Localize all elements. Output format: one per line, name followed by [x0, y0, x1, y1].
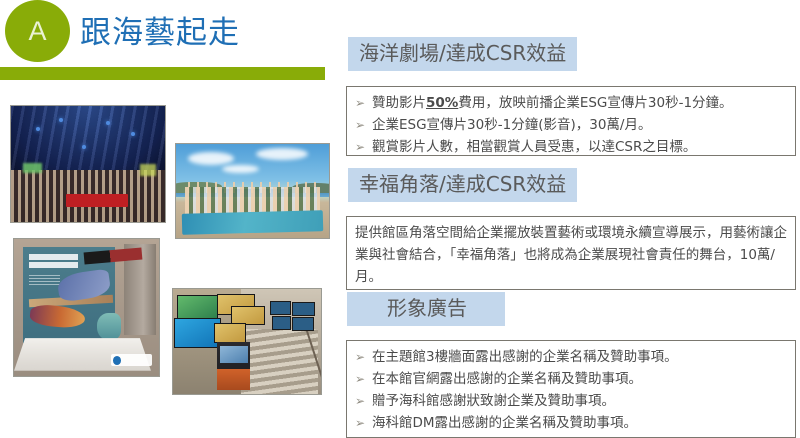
theater-light-dot: [36, 127, 40, 131]
page-title: 跟海藝起走: [80, 17, 240, 50]
bullet-arrow-icon: ➢: [355, 115, 372, 136]
content-column: 海洋劇場/達成CSR效益 ➢ 贊助影片50%費用，放映前播企業ESG宣傳片30秒…: [344, 0, 800, 437]
photo-theater-image: [11, 106, 165, 222]
info-kiosk-screen: [220, 346, 248, 363]
beach-cloud: [256, 148, 308, 160]
theater-stage-light: [23, 163, 41, 173]
bullet-list-image-ad: ➢ 在主題館3樓牆面露出感謝的企業名稱及贊助事項。 ➢ 在本館官網露出感謝的企業…: [355, 347, 787, 434]
section-header-ocean-theater: 海洋劇場/達成CSR效益: [348, 37, 577, 71]
bullet-list-ocean-theater: ➢ 贊助影片50%費用，放映前播企業ESG宣傳片30秒-1分鐘。 ➢ 企業ESG…: [355, 93, 787, 159]
theater-red-banner: [66, 194, 128, 207]
distant-screen: [292, 302, 315, 317]
photo-exhibit-image: [14, 239, 159, 376]
exhibit-museum-logo: [111, 354, 152, 366]
slide-header: A 跟海藝起走: [0, 0, 340, 82]
section-box-image-ad: ➢ 在主題館3樓牆面露出感謝的企業名稱及贊助事項。 ➢ 在本館官網露出感謝的企業…: [346, 340, 796, 438]
bullet-arrow-icon: ➢: [355, 413, 372, 434]
section-header-happy-corner: 幸福角落/達成CSR效益: [348, 168, 577, 202]
list-item-text: 觀賞影片人數，相當觀賞人員受惠，以達CSR之目標。: [372, 137, 787, 159]
theater-light-dot: [59, 118, 63, 122]
list-item-text: 在主題館3樓牆面露出感謝的企業名稱及贊助事項。: [372, 347, 787, 369]
theater-stage-light: [140, 164, 155, 176]
list-item-text: 海科館DM露出感謝的企業名稱及贊助事項。: [372, 413, 787, 435]
list-item-text-pre: 贊助影片: [372, 95, 426, 111]
header-accent-bar: [0, 67, 325, 80]
bullet-arrow-icon: ➢: [355, 369, 372, 390]
wall-screen: [177, 295, 217, 320]
photo-exhibit: [13, 238, 160, 377]
list-item-text: 贈予海科館感謝狀致謝企業及贊助事項。: [372, 391, 787, 413]
exhibit-coral-sculpture: [97, 313, 122, 340]
list-item-text: 贊助影片50%費用，放映前播企業ESG宣傳片30秒-1分鐘。: [372, 93, 787, 115]
beach-banner: [182, 210, 323, 234]
section-badge: A: [5, 0, 70, 62]
distant-screen: [272, 316, 292, 330]
section-box-ocean-theater: ➢ 贊助影片50%費用，放映前播企業ESG宣傳片30秒-1分鐘。 ➢ 企業ESG…: [346, 86, 796, 156]
theater-light-dot: [131, 132, 135, 136]
list-item-text-emph: 50%: [426, 95, 458, 111]
photo-beach-image: [176, 144, 329, 238]
beach-cloud: [222, 165, 259, 173]
info-kiosk-base: [217, 369, 250, 390]
photo-stairs-image: [173, 289, 321, 394]
section-header-image-ad: 形象廣告: [347, 292, 505, 326]
list-item: ➢ 贊助影片50%費用，放映前播企業ESG宣傳片30秒-1分鐘。: [355, 93, 787, 115]
list-item: ➢ 海科館DM露出感謝的企業名稱及贊助事項。: [355, 413, 787, 435]
bullet-arrow-icon: ➢: [355, 347, 372, 368]
photo-theater: [10, 105, 166, 223]
paragraph-happy-corner: 提供館區角落空間給企業擺放裝置藝術或環境永續宣導展示，用藝術讓企業與社會結合，「…: [355, 223, 787, 289]
beach-cloud: [188, 152, 234, 165]
list-item-text: 在本館官網露出感謝的企業名稱及贊助事項。: [372, 369, 787, 391]
distant-screen: [292, 317, 313, 331]
distant-screen: [270, 301, 291, 316]
photo-beach: [175, 143, 330, 239]
photo-stairs: [172, 288, 322, 395]
list-item-text-post: 費用，放映前播企業ESG宣傳片30秒-1分鐘。: [458, 95, 732, 111]
list-item: ➢ 觀賞影片人數，相當觀賞人員受惠，以達CSR之目標。: [355, 137, 787, 159]
bullet-arrow-icon: ➢: [355, 391, 372, 412]
wall-screen: [214, 323, 246, 344]
list-item: ➢ 企業ESG宣傳片30秒-1分鐘(影音)，30萬/月。: [355, 115, 787, 137]
list-item: ➢ 贈予海科館感謝狀致謝企業及贊助事項。: [355, 391, 787, 413]
list-item: ➢ 在主題館3樓牆面露出感謝的企業名稱及贊助事項。: [355, 347, 787, 369]
bullet-arrow-icon: ➢: [355, 93, 372, 114]
list-item: ➢ 在本館官網露出感謝的企業名稱及贊助事項。: [355, 369, 787, 391]
bullet-arrow-icon: ➢: [355, 137, 372, 158]
exhibit-panel-heading: [29, 254, 78, 260]
list-item-text: 企業ESG宣傳片30秒-1分鐘(影音)，30萬/月。: [372, 115, 787, 137]
exhibit-panel-body: [29, 273, 61, 287]
section-badge-letter: A: [28, 18, 46, 45]
section-box-happy-corner: 提供館區角落空間給企業擺放裝置藝術或環境永續宣導展示，用藝術讓企業與社會結合，「…: [346, 216, 796, 290]
